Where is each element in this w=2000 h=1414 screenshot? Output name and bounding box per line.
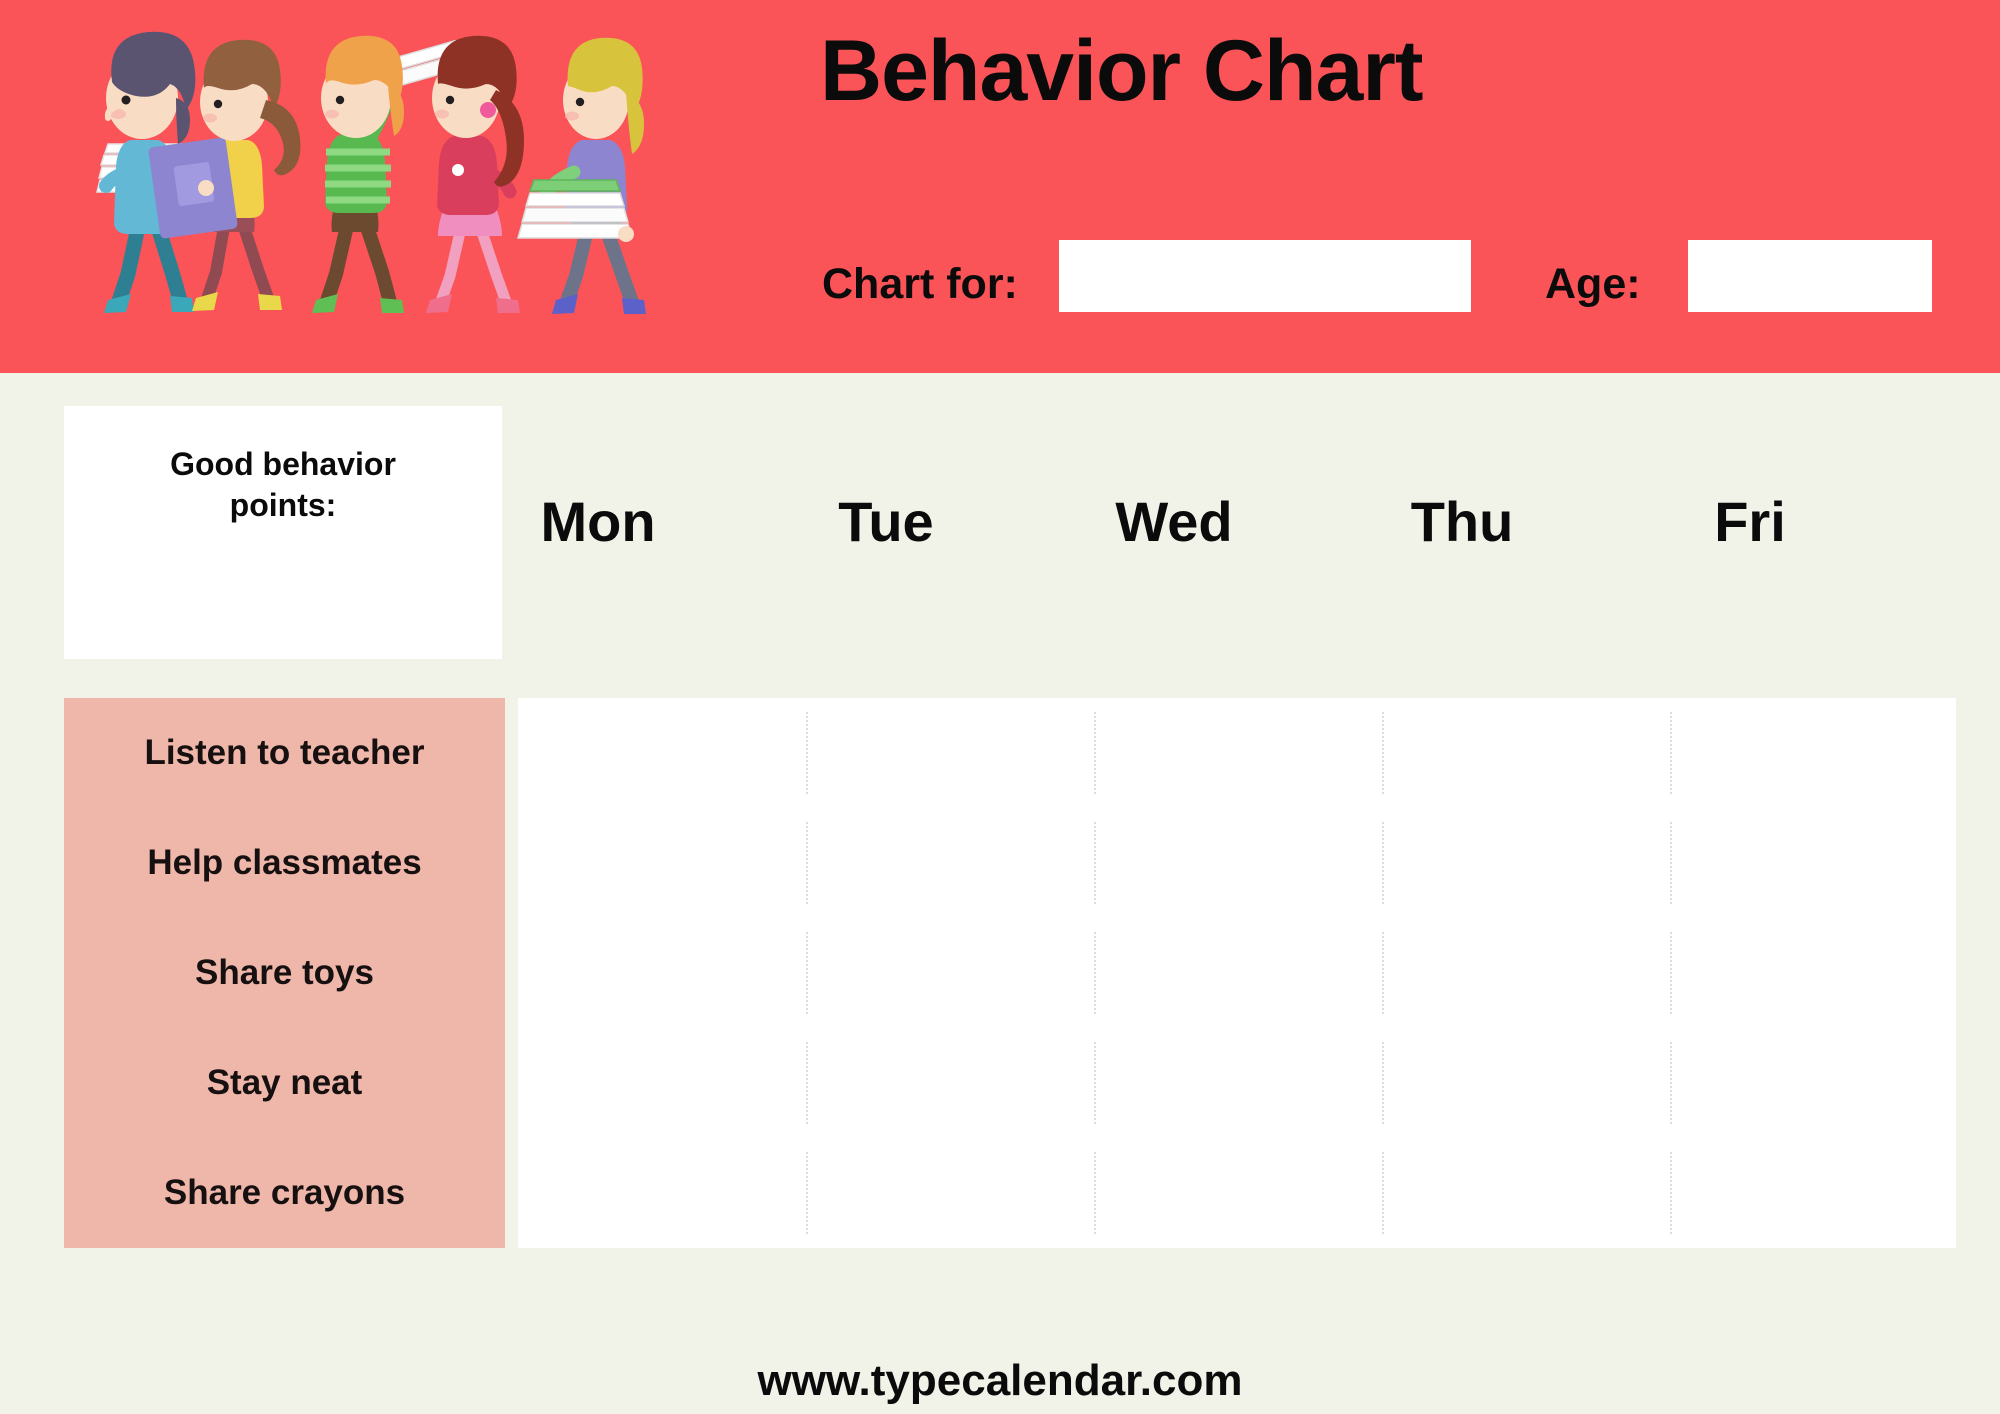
table-row: Listen to teacher bbox=[64, 698, 1956, 808]
column-divider bbox=[806, 932, 808, 1014]
behavior-label-stay-neat: Stay neat bbox=[64, 1028, 505, 1138]
column-divider bbox=[1382, 932, 1384, 1014]
column-divider bbox=[1670, 1042, 1672, 1124]
day-header-fri: Fri bbox=[1606, 482, 1894, 562]
behavior-row-cells bbox=[518, 698, 1956, 808]
chart-for-label: Chart for: bbox=[822, 260, 1018, 309]
table-row: Stay neat bbox=[64, 1028, 1956, 1138]
behavior-row-cells bbox=[518, 808, 1956, 918]
behavior-row-cells bbox=[518, 918, 1956, 1028]
behavior-label-help-classmates: Help classmates bbox=[64, 808, 505, 918]
column-divider bbox=[1094, 712, 1096, 794]
column-divider bbox=[806, 1042, 808, 1124]
behavior-label-share-crayons: Share crayons bbox=[64, 1138, 505, 1248]
column-divider bbox=[1670, 712, 1672, 794]
column-divider bbox=[1670, 822, 1672, 904]
chart-for-input[interactable] bbox=[1059, 240, 1471, 312]
column-divider bbox=[1382, 822, 1384, 904]
column-divider bbox=[1670, 932, 1672, 1014]
column-divider bbox=[1670, 1152, 1672, 1234]
good-behavior-points-label: Good behavior points: bbox=[64, 444, 502, 526]
column-divider bbox=[1382, 1042, 1384, 1124]
behavior-label-share-toys: Share toys bbox=[64, 918, 505, 1028]
footer-url: www.typecalendar.com bbox=[0, 1356, 2000, 1406]
good-behavior-points-label-line2: points: bbox=[64, 485, 502, 526]
behavior-label-text: Help classmates bbox=[147, 843, 421, 883]
children-carrying-books-illustration bbox=[30, 22, 790, 352]
table-row: Share toys bbox=[64, 918, 1956, 1028]
behavior-row-cells bbox=[518, 1028, 1956, 1138]
table-row: Help classmates bbox=[64, 808, 1956, 918]
column-divider bbox=[1094, 932, 1096, 1014]
good-behavior-points-box[interactable]: Good behavior points: bbox=[64, 406, 502, 659]
good-behavior-points-label-line1: Good behavior bbox=[64, 444, 502, 485]
behavior-label-text: Share toys bbox=[195, 953, 374, 993]
page-title: Behavior Chart bbox=[820, 22, 1423, 121]
column-divider bbox=[1094, 1042, 1096, 1124]
column-divider bbox=[1382, 1152, 1384, 1234]
column-divider bbox=[1094, 1152, 1096, 1234]
column-divider bbox=[806, 822, 808, 904]
table-row: Share crayons bbox=[64, 1138, 1956, 1248]
day-header-thu: Thu bbox=[1318, 482, 1606, 562]
behavior-label-text: Stay neat bbox=[207, 1063, 363, 1103]
page-header: Behavior Chart Chart for: Age: bbox=[0, 0, 2000, 373]
behavior-label-listen-to-teacher: Listen to teacher bbox=[64, 698, 505, 808]
day-header-tue: Tue bbox=[742, 482, 1030, 562]
age-input[interactable] bbox=[1688, 240, 1932, 312]
behavior-row-cells bbox=[518, 1138, 1956, 1248]
day-header-wed: Wed bbox=[1030, 482, 1318, 562]
age-label: Age: bbox=[1545, 260, 1641, 309]
column-divider bbox=[806, 712, 808, 794]
behavior-chart-page: Behavior Chart Chart for: Age: Good beha… bbox=[0, 0, 2000, 1414]
day-header-mon: Mon bbox=[454, 482, 742, 562]
column-divider bbox=[1382, 712, 1384, 794]
behavior-label-text: Listen to teacher bbox=[144, 733, 424, 773]
behavior-label-text: Share crayons bbox=[164, 1173, 405, 1213]
column-divider bbox=[806, 1152, 808, 1234]
column-divider bbox=[1094, 822, 1096, 904]
